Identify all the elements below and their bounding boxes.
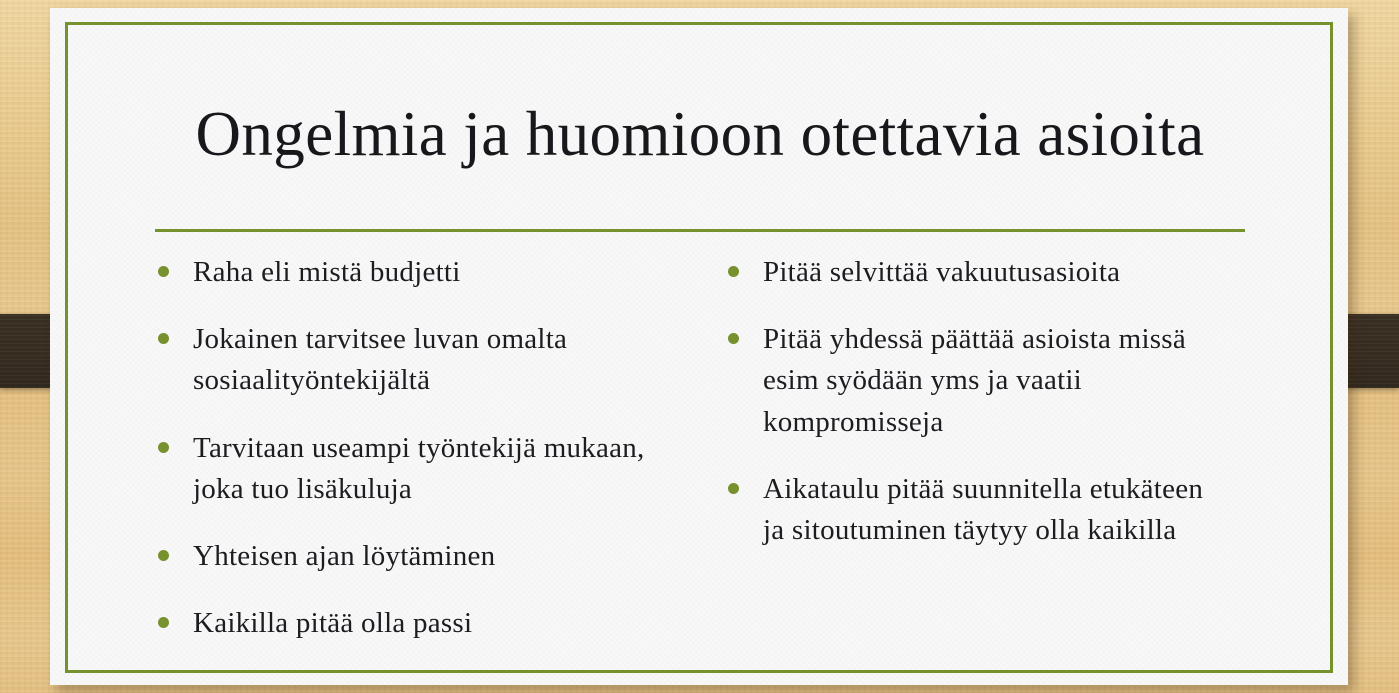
page-title: Ongelmia ja huomioon otettavia asioita: [155, 100, 1245, 168]
bullet-dot-icon: [728, 266, 739, 277]
list-item: Yhteisen ajan löytäminen: [150, 536, 656, 577]
list-item: Raha eli mistä budjetti: [150, 252, 656, 293]
list-item-label: Pitää yhdessä päättää asioista missä esi…: [763, 319, 1226, 443]
list-item: Kaikilla pitää olla passi: [150, 603, 656, 644]
list-item-label: Jokainen tarvitsee luvan omalta sosiaali…: [193, 319, 656, 401]
bullet-column-right: Pitää selvittää vakuutusasioita Pitää yh…: [720, 252, 1226, 670]
bullet-dot-icon: [158, 333, 169, 344]
list-item: Aikataulu pitää suunnitella etukäteen ja…: [720, 469, 1226, 551]
bullet-columns: Raha eli mistä budjetti Jokainen tarvits…: [150, 252, 1250, 670]
list-item: Tarvitaan useampi työntekijä mukaan, jok…: [150, 428, 656, 510]
presentation-slide: Ongelmia ja huomioon otettavia asioita R…: [0, 0, 1399, 693]
list-item-label: Raha eli mistä budjetti: [193, 252, 656, 293]
bullet-dot-icon: [158, 550, 169, 561]
list-item-label: Aikataulu pitää suunnitella etukäteen ja…: [763, 469, 1226, 551]
bullet-list-right: Pitää selvittää vakuutusasioita Pitää yh…: [720, 252, 1226, 551]
list-item-label: Yhteisen ajan löytäminen: [193, 536, 656, 577]
bullet-dot-icon: [158, 617, 169, 628]
list-item-label: Kaikilla pitää olla passi: [193, 603, 656, 644]
bullet-dot-icon: [158, 442, 169, 453]
bullet-dot-icon: [728, 483, 739, 494]
bullet-column-left: Raha eli mistä budjetti Jokainen tarvits…: [150, 252, 656, 670]
title-divider: [155, 229, 1245, 232]
bullet-dot-icon: [728, 333, 739, 344]
list-item-label: Pitää selvittää vakuutusasioita: [763, 252, 1226, 293]
list-item-label: Tarvitaan useampi työntekijä mukaan, jok…: [193, 428, 656, 510]
bullet-dot-icon: [158, 266, 169, 277]
bullet-list-left: Raha eli mistä budjetti Jokainen tarvits…: [150, 252, 656, 644]
list-item: Pitää yhdessä päättää asioista missä esi…: [720, 319, 1226, 443]
list-item: Pitää selvittää vakuutusasioita: [720, 252, 1226, 293]
list-item: Jokainen tarvitsee luvan omalta sosiaali…: [150, 319, 656, 401]
